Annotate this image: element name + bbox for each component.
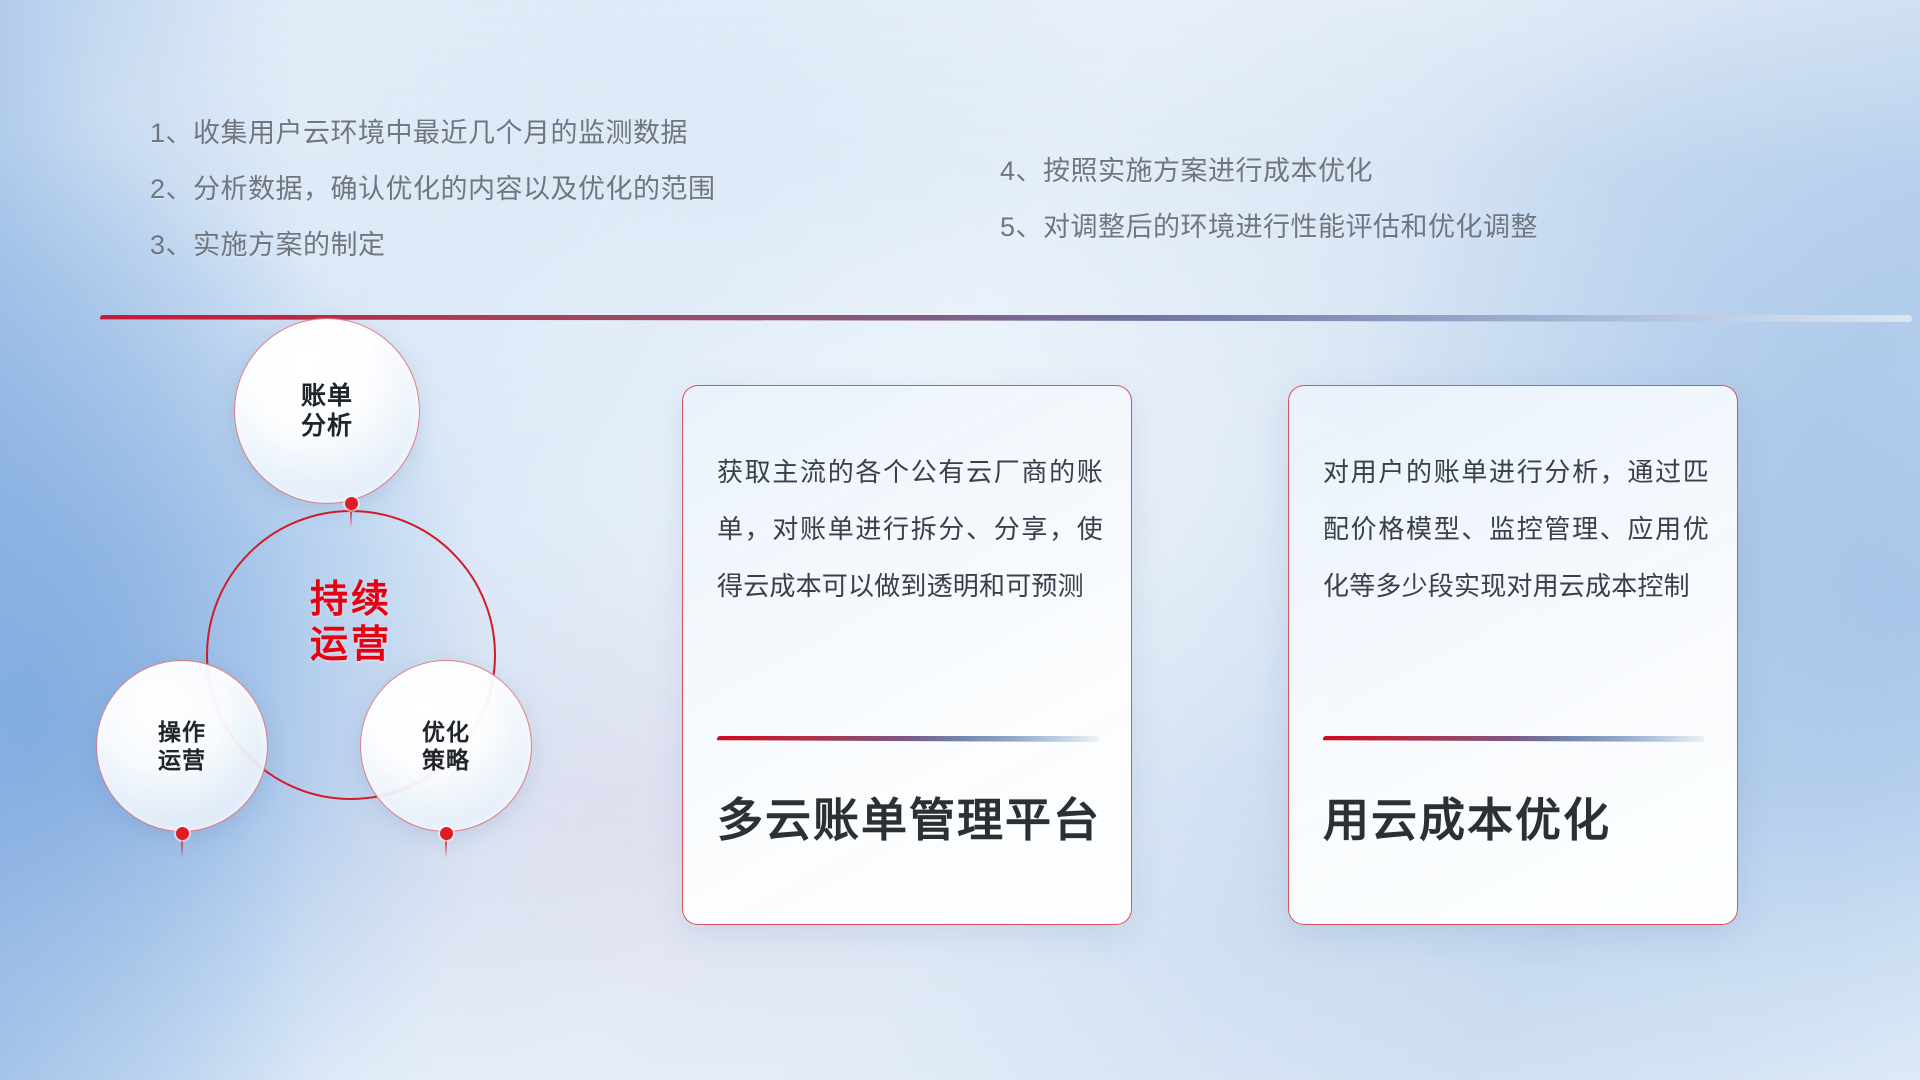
card-title: 用云成本优化 xyxy=(1323,794,1717,847)
venn-node-tail xyxy=(350,508,352,528)
step-number: 1、 xyxy=(150,120,193,147)
step-item: 2、 分析数据，确认优化的内容以及优化的范围 xyxy=(150,176,716,203)
venn-node-dot-bottom-left xyxy=(176,827,189,840)
card-multi-cloud-billing-platform[interactable]: 获取主流的各个公有云厂商的账单，对账单进行拆分、分享，使得云成本可以做到透明和可… xyxy=(682,385,1132,925)
step-number: 3、 xyxy=(150,232,193,259)
step-number: 4、 xyxy=(1000,158,1043,185)
venn-node-tail xyxy=(445,838,447,858)
venn-bubble-bill-analysis[interactable]: 账单 分析 xyxy=(234,318,420,504)
step-item: 5、 对调整后的环境进行性能评估和优化调整 xyxy=(1000,214,1538,241)
venn-node-dot-bottom-right xyxy=(440,827,453,840)
venn-node-tail xyxy=(181,838,183,858)
steps-column-left: 1、 收集用户云环境中最近几个月的监测数据 2、 分析数据，确认优化的内容以及优… xyxy=(150,120,716,288)
venn-bubble-label: 账单 分析 xyxy=(301,381,353,442)
card-divider-rule xyxy=(1323,736,1705,742)
step-item: 3、 实施方案的制定 xyxy=(150,232,716,259)
card-title: 多云账单管理平台 xyxy=(717,794,1111,847)
step-text: 收集用户云环境中最近几个月的监测数据 xyxy=(193,120,688,147)
step-text: 分析数据，确认优化的内容以及优化的范围 xyxy=(193,176,716,203)
venn-bubble-label: 优化 策略 xyxy=(422,718,470,774)
card-divider-rule xyxy=(717,736,1099,742)
card-body-text: 对用户的账单进行分析，通过匹配价格模型、监控管理、应用优化等多少段实现对用云成本… xyxy=(1323,444,1709,616)
step-number: 2、 xyxy=(150,176,193,203)
step-item: 1、 收集用户云环境中最近几个月的监测数据 xyxy=(150,120,716,147)
step-text: 按照实施方案进行成本优化 xyxy=(1043,158,1373,185)
venn-bubble-optimization-strategy[interactable]: 优化 策略 xyxy=(360,660,532,832)
card-cloud-cost-optimization[interactable]: 对用户的账单进行分析，通过匹配价格模型、监控管理、应用优化等多少段实现对用云成本… xyxy=(1288,385,1738,925)
venn-diagram: 账单 分析 操作 运营 优化 策略 持续 运营 xyxy=(96,340,616,960)
venn-node-dot-top xyxy=(345,497,358,510)
step-text: 对调整后的环境进行性能评估和优化调整 xyxy=(1043,214,1538,241)
venn-bubble-label: 操作 运营 xyxy=(158,718,206,774)
step-number: 5、 xyxy=(1000,214,1043,241)
card-body-text: 获取主流的各个公有云厂商的账单，对账单进行拆分、分享，使得云成本可以做到透明和可… xyxy=(717,444,1103,616)
step-text: 实施方案的制定 xyxy=(193,232,386,259)
steps-column-right: 4、 按照实施方案进行成本优化 5、 对调整后的环境进行性能评估和优化调整 xyxy=(1000,158,1538,270)
venn-center-label: 持续 运营 xyxy=(206,578,496,668)
step-item: 4、 按照实施方案进行成本优化 xyxy=(1000,158,1538,185)
venn-bubble-operation[interactable]: 操作 运营 xyxy=(96,660,268,832)
steps-section: 1、 收集用户云环境中最近几个月的监测数据 2、 分析数据，确认优化的内容以及优… xyxy=(0,0,1920,300)
